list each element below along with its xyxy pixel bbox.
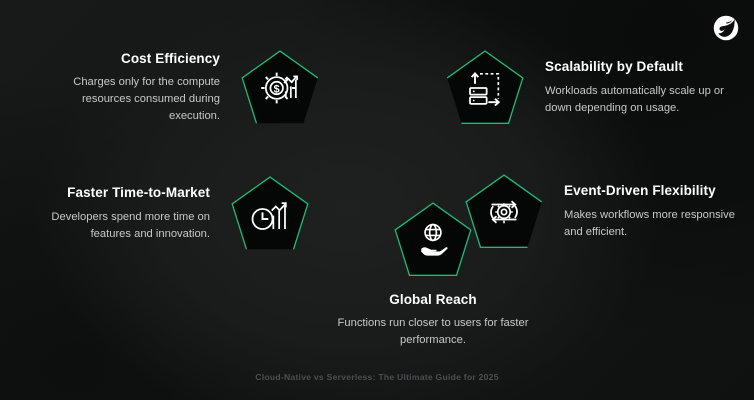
clock-growth-chart-icon: [250, 194, 290, 234]
feature-title: Global Reach: [318, 292, 548, 308]
feature-text-block: Scalability by Default Workloads automat…: [545, 59, 735, 116]
gear-dollar-chart-icon: $: [260, 68, 300, 108]
server-scale-arrows-icon: [465, 68, 505, 108]
slide-canvas: Cost Efficiency Charges only for the com…: [0, 0, 754, 400]
feature-glyph: [443, 46, 527, 130]
footer-caption: Cloud-Native vs Serverless: The Ultimate…: [0, 372, 754, 382]
feature-global-reach[interactable]: Global Reach Functions run closer to use…: [318, 198, 548, 349]
feature-text-block: Faster Time-to-Market Developers spend m…: [20, 185, 210, 242]
svg-text:$: $: [274, 84, 280, 96]
feature-icon-badge[interactable]: [228, 172, 312, 256]
feature-title: Cost Efficiency: [30, 51, 220, 67]
feature-faster-time-to-market[interactable]: Faster Time-to-Market Developers spend m…: [20, 172, 312, 256]
feature-glyph: [391, 198, 475, 282]
feature-cost-efficiency[interactable]: Cost Efficiency Charges only for the com…: [30, 46, 322, 130]
feature-glyph: [228, 172, 312, 256]
feature-glyph: $: [238, 46, 322, 130]
feature-title: Event-Driven Flexibility: [564, 183, 754, 199]
feature-description: Charges only for the compute resources c…: [30, 74, 220, 125]
feature-icon-badge[interactable]: [391, 198, 475, 282]
feature-text-block: Event-Driven Flexibility Makes workflows…: [564, 183, 754, 240]
feature-description: Developers spend more time on features a…: [20, 209, 210, 243]
feature-description: Makes workflows more responsive and effi…: [564, 207, 754, 241]
feature-icon-badge[interactable]: [443, 46, 527, 130]
feature-text-block: Cost Efficiency Charges only for the com…: [30, 51, 220, 125]
brand-logo[interactable]: [712, 14, 740, 42]
leaf-swoosh-logo-icon: [712, 14, 740, 42]
feature-title: Scalability by Default: [545, 59, 735, 75]
feature-icon-badge[interactable]: $: [238, 46, 322, 130]
feature-scalability-by-default[interactable]: Scalability by Default Workloads automat…: [443, 46, 735, 130]
feature-description: Functions run closer to users for faster…: [318, 315, 548, 349]
feature-title: Faster Time-to-Market: [20, 185, 210, 201]
globe-in-hand-icon: [413, 220, 453, 260]
feature-description: Workloads automatically scale up or down…: [545, 83, 735, 117]
feature-text-block: Global Reach Functions run closer to use…: [318, 292, 548, 349]
